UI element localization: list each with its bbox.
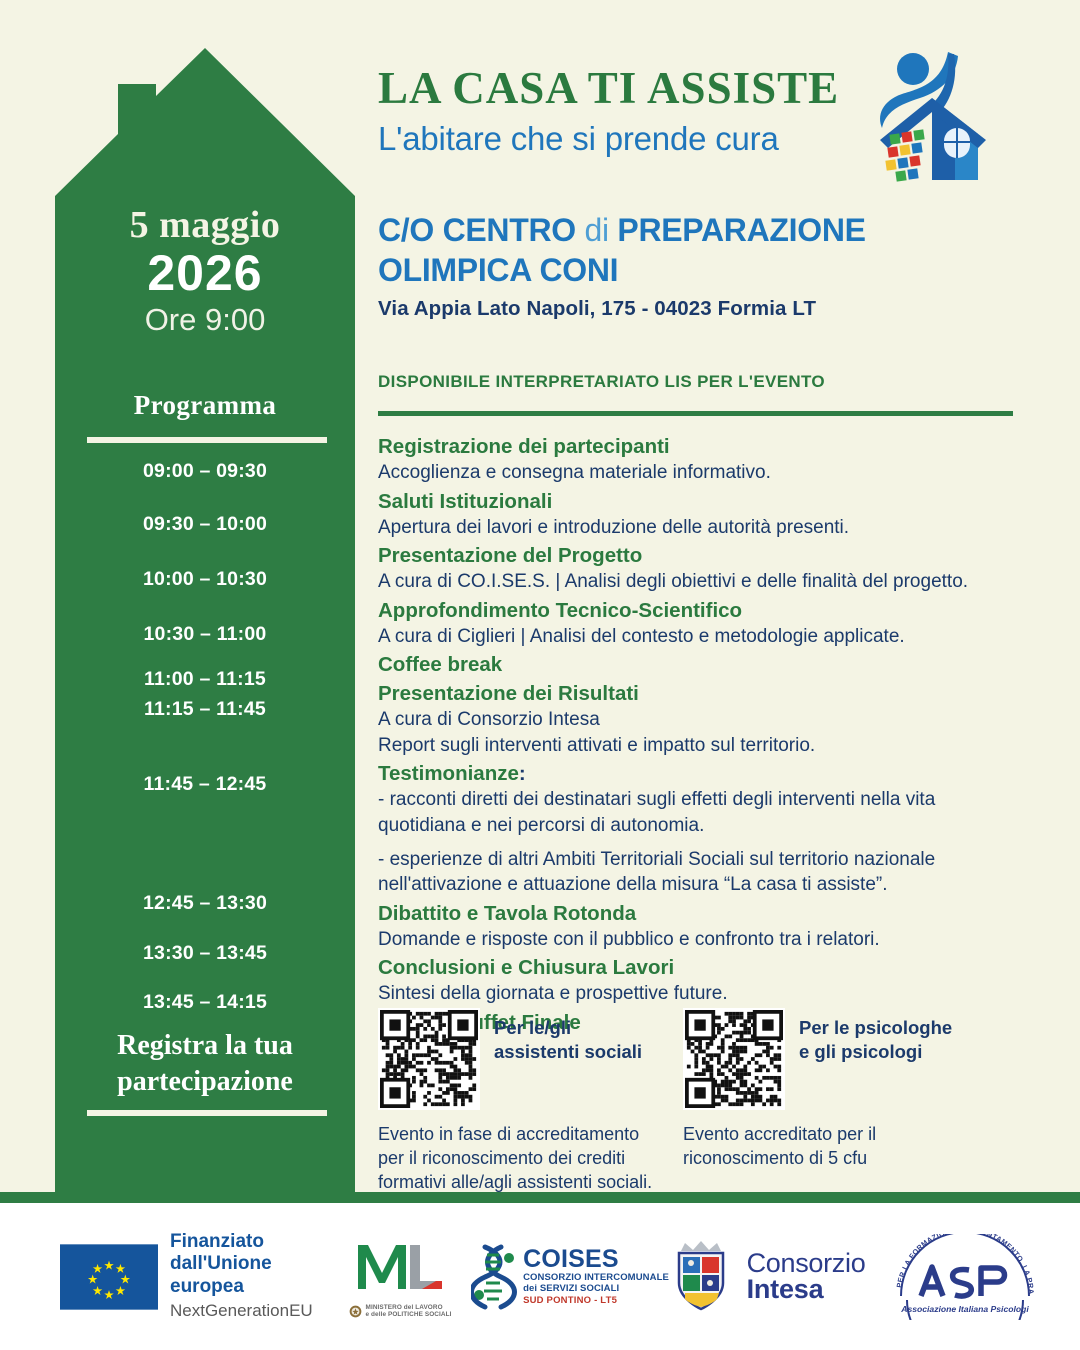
qr-code-psicologi[interactable] xyxy=(683,1008,785,1110)
la-casa-ti-assiste-logo-icon xyxy=(872,48,992,188)
program-item-title: Approfondimento Tecnico-Scientifico xyxy=(378,597,978,624)
program-item-title: Coffee break xyxy=(378,651,978,678)
program-item-desc: Accoglienza e consegna materiale informa… xyxy=(378,460,978,485)
lis-availability-note: DISPONIBILE INTERPRETARIATO LIS PER L'EV… xyxy=(378,372,825,392)
coises-name: COISES xyxy=(523,1247,669,1272)
program-item: Approfondimento Tecnico-ScientificoA cur… xyxy=(378,597,978,650)
eu-funding-logo: Finanziato dall'Unione europea NextGener… xyxy=(0,1231,330,1322)
coises-helix-icon xyxy=(471,1241,517,1313)
qr-label-line2: assistenti sociali xyxy=(494,1040,642,1064)
ministero-sub-line2: e delle POLITICHE SOCIALI xyxy=(366,1311,452,1318)
qr-code-assistenti-sociali-graphic[interactable] xyxy=(380,1010,478,1108)
program-item-desc: Report sugli interventi attivati e impat… xyxy=(378,733,978,758)
program-item-title: Registrazione dei partecipanti xyxy=(378,433,978,460)
qr-note: Evento accreditato per il riconoscimento… xyxy=(683,1122,983,1170)
house-sidebar: 5 maggio 2026 Ore 9:00 Programma 09:00 –… xyxy=(55,28,355,1193)
qr-column: Per le/gliassistenti socialiEvento in fa… xyxy=(378,1008,668,1194)
program-item-desc: A cura di Ciglieri | Analisi del contest… xyxy=(378,624,978,649)
repubblica-emblem-icon xyxy=(349,1305,362,1318)
venue-name: C/O CENTRO di PREPARAZIONE OLIMPICA CONI xyxy=(378,210,968,290)
program-item-desc: Apertura dei lavori e introduzione delle… xyxy=(378,515,978,540)
program-item-desc: - racconti diretti dei destinatari sugli… xyxy=(378,787,978,838)
event-poster: 5 maggio 2026 Ore 9:00 Programma 09:00 –… xyxy=(0,0,1080,1350)
schedule-time: 10:00 – 10:30 xyxy=(55,568,355,591)
schedule-time: 13:30 – 13:45 xyxy=(55,942,355,965)
program-item: Saluti IstituzionaliApertura dei lavori … xyxy=(378,488,978,541)
program-item-desc: Domande e risposte con il pubblico e con… xyxy=(378,927,978,952)
intesa-line2: Intesa xyxy=(747,1276,866,1303)
program-item: Testimonianze:- racconti diretti dei des… xyxy=(378,760,978,898)
page-title: LA CASA TI ASSISTE xyxy=(378,62,839,114)
venue-strong-b: PREPARAZIONE xyxy=(617,212,865,248)
svg-text:Associazione Italiana Psicolog: Associazione Italiana Psicologi xyxy=(900,1304,1029,1314)
ministero-sub-line1: MINISTERO del LAVORO xyxy=(366,1304,452,1311)
qr-header: Per le/gliassistenti sociali xyxy=(378,1008,668,1110)
sidebar-divider-top xyxy=(87,437,327,443)
program-item-desc: - esperienze di altri Ambiti Territorial… xyxy=(378,847,978,898)
qr-header: Per le psicologhee gli psicologi xyxy=(683,1008,983,1110)
intesa-line1: Consorzio xyxy=(747,1250,866,1276)
qr-code-psicologi-graphic[interactable] xyxy=(685,1010,783,1108)
program-item-title: Presentazione dei Risultati xyxy=(378,680,978,707)
qr-code-assistenti-sociali[interactable] xyxy=(378,1008,480,1110)
schedule-time: 10:30 – 11:00 xyxy=(55,623,355,646)
ministero-monogram-icon xyxy=(352,1235,448,1297)
program-item-desc: Sintesi della giornata e prospettive fut… xyxy=(378,981,978,1006)
footer-green-band xyxy=(0,1192,1080,1203)
qr-label-line1: Per le psicologhe xyxy=(799,1016,952,1040)
schedule-time: 13:45 – 14:15 xyxy=(55,991,355,1014)
qr-label-line1: Per le/gli xyxy=(494,1016,642,1040)
footer-logos-bar: Finanziato dall'Unione europea NextGener… xyxy=(0,1203,1080,1350)
program-item-title: Presentazione del Progetto xyxy=(378,542,978,569)
schedule-time: 11:00 – 11:15 xyxy=(55,668,355,691)
program-item-title: Conclusioni e Chiusura Lavori xyxy=(378,954,978,981)
ministero-lavoro-logo: MINISTERO del LAVORO e delle POLITICHE S… xyxy=(330,1235,470,1319)
program-item: Conclusioni e Chiusura LavoriSintesi del… xyxy=(378,954,978,1007)
program-item: Presentazione del ProgettoA cura di CO.I… xyxy=(378,542,978,595)
qr-label: Per le/gliassistenti sociali xyxy=(494,1008,642,1063)
program-item-title: Dibattito e Tavola Rotonda xyxy=(378,900,978,927)
program-item-desc: A cura di Consorzio Intesa xyxy=(378,707,978,732)
aip-asp-icon: PER LA FORMAZIONE, L'ORIENTAMENTO, LA PR… xyxy=(885,1234,1045,1320)
schedule-time: 09:30 – 10:00 xyxy=(55,513,355,536)
schedule-time: 11:45 – 12:45 xyxy=(55,773,355,796)
sidebar-divider-bottom xyxy=(87,1110,327,1116)
venue-line2: OLIMPICA CONI xyxy=(378,252,618,288)
qr-note: Evento in fase di accreditamento per il … xyxy=(378,1122,668,1194)
section-divider xyxy=(378,411,1013,416)
qr-column: Per le psicologhee gli psicologiEvento a… xyxy=(683,1008,983,1170)
venue-strong-a: C/O CENTRO xyxy=(378,212,576,248)
program-item: Coffee break xyxy=(378,651,978,678)
venue-address: Via Appia Lato Napoli, 175 - 04023 Formi… xyxy=(378,297,816,321)
schedule-time: 12:45 – 13:30 xyxy=(55,892,355,915)
event-date-block: 5 maggio 2026 Ore 9:00 xyxy=(55,206,355,338)
eu-funding-line1: Finanziato xyxy=(170,1231,330,1253)
event-date-day: 5 maggio xyxy=(55,206,355,246)
page-subtitle: L'abitare che si prende cura xyxy=(378,120,779,158)
register-callout: Registra la tua partecipazione xyxy=(65,1028,345,1101)
program-item-desc: A cura di CO.I.SE.S. | Analisi degli obi… xyxy=(378,569,978,594)
program-item-title-suffix: : xyxy=(519,762,526,785)
schedule-time: 11:15 – 11:45 xyxy=(55,698,355,721)
programma-heading: Programma xyxy=(55,390,355,421)
program-item-title: Saluti Istituzionali xyxy=(378,488,978,515)
qr-label-line2: e gli psicologi xyxy=(799,1040,952,1064)
qr-label: Per le psicologhee gli psicologi xyxy=(799,1008,952,1063)
coises-sub1: CONSORZIO INTERCOMUNALE xyxy=(523,1272,669,1283)
intesa-shield-icon xyxy=(675,1239,737,1315)
program-item: Presentazione dei RisultatiA cura di Con… xyxy=(378,680,978,758)
event-start-time: Ore 9:00 xyxy=(55,301,355,338)
coises-sub2: dei SERVIZI SOCIALI xyxy=(523,1283,669,1294)
coises-sub3: SUD PONTINO - LT5 xyxy=(523,1295,669,1306)
program-item: Dibattito e Tavola RotondaDomande e risp… xyxy=(378,900,978,953)
event-date-year: 2026 xyxy=(55,246,355,301)
eu-funding-line2: dall'Unione europea xyxy=(170,1253,330,1298)
eu-funding-line3: NextGenerationEU xyxy=(170,1300,330,1322)
consorzio-intesa-logo: Consorzio Intesa xyxy=(670,1239,870,1315)
venue-connector: di xyxy=(585,212,609,248)
program-list: Registrazione dei partecipantiAccoglienz… xyxy=(378,433,978,1038)
program-item-title: Testimonianze: xyxy=(378,760,978,787)
eu-flag-icon xyxy=(60,1244,158,1310)
program-item: Registrazione dei partecipantiAccoglienz… xyxy=(378,433,978,486)
schedule-time: 09:00 – 09:30 xyxy=(55,460,355,483)
coises-logo: COISES CONSORZIO INTERCOMUNALE dei SERVI… xyxy=(470,1241,670,1313)
aip-logo: PER LA FORMAZIONE, L'ORIENTAMENTO, LA PR… xyxy=(870,1234,1060,1320)
